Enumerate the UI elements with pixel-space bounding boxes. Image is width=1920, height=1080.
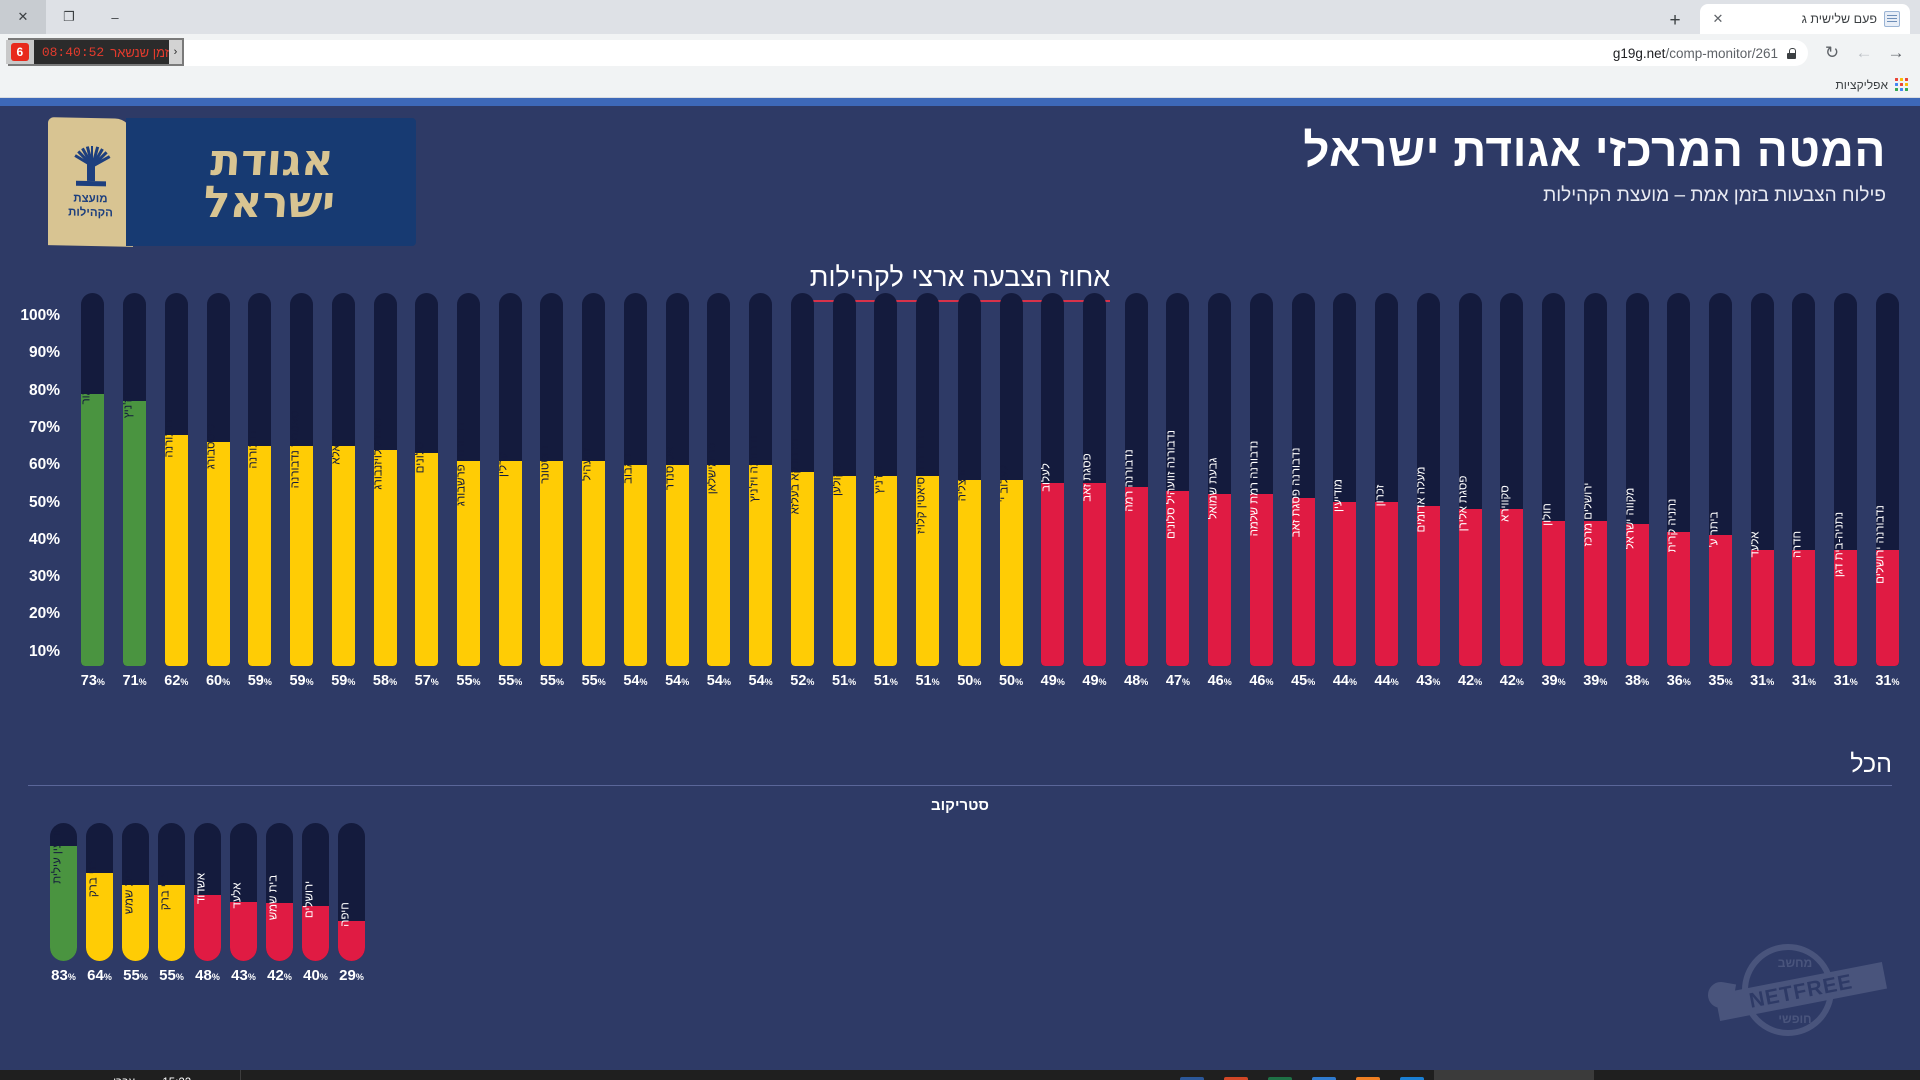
bar-value-label: 57% <box>415 673 439 689</box>
sub-bar-track: בני ברק <box>86 823 113 961</box>
bar-track: פסגת זאב <box>1083 293 1106 666</box>
y-axis-tick: 10% <box>29 643 60 661</box>
sub-bar-label: ירושלים <box>304 881 316 918</box>
bar-value-label: 51% <box>832 673 856 689</box>
bar-value-label: 54% <box>707 673 731 689</box>
bar-label: גור <box>81 391 93 405</box>
sub-bar-item[interactable]: בני ברק55% <box>158 823 185 984</box>
bar-label: זוועהיל <box>582 448 594 481</box>
tab-title: פעם שלישית ג <box>1733 12 1877 26</box>
bar-label: ויז'ניץ <box>123 393 135 418</box>
bar-track: סקולען <box>833 293 856 666</box>
sub-bar-item[interactable]: בית שמש55% <box>122 823 149 984</box>
bar-item[interactable]: מקווה ישראל38% <box>1616 293 1658 689</box>
sub-bar-track: אשדוד <box>194 823 221 961</box>
search-icon[interactable]: ⌕ <box>1834 1070 1874 1080</box>
sub-bar-item[interactable]: בית שמש42% <box>266 823 293 984</box>
show-desktop-button[interactable] <box>240 1070 249 1080</box>
bar-item[interactable]: סקולען51% <box>823 293 865 689</box>
bar-item[interactable]: נדבורנה רמה48% <box>1115 293 1157 689</box>
bar-item[interactable]: פיטסבורג60% <box>197 293 239 689</box>
bar-value-label: 31% <box>1875 673 1899 689</box>
bar-value-label: 55% <box>498 673 522 689</box>
bar-value-label: 39% <box>1583 673 1607 689</box>
y-axis-tick: 20% <box>29 605 60 623</box>
page-content: מועצת הקהילות אגודת ישראל המטה המרכזי אג… <box>0 98 1920 1070</box>
bar-label: מכנובקא בעלזא <box>791 438 803 514</box>
sub-bar-item[interactable]: ירושלים40% <box>302 823 329 984</box>
lock-icon <box>1787 48 1796 59</box>
minimize-window-icon[interactable]: – <box>92 0 138 34</box>
bar-item[interactable]: לעלוב49% <box>1032 293 1074 689</box>
bar-label: מודיעין <box>1333 479 1345 512</box>
address-bar-url: g19g.net/comp-monitor/261 <box>1613 46 1778 61</box>
bar-item[interactable]: ביאלא59% <box>322 293 364 689</box>
bar-value-label: 54% <box>665 673 689 689</box>
bar-label: וויז'ניץ <box>874 466 886 494</box>
bar-label: פסגת זאב <box>1083 453 1095 501</box>
bar-track: נתניה קרית <box>1667 293 1690 666</box>
bar-item[interactable]: מודיעין44% <box>1324 293 1366 689</box>
bar-item[interactable]: ירושלים מרכז39% <box>1574 293 1616 689</box>
bar-track: נדבורנה רמת שלמה <box>1250 293 1273 666</box>
bar-item[interactable]: נתניה-בית דגן31% <box>1825 293 1867 689</box>
bar-label: נדבורנה <box>248 431 260 469</box>
bar-item[interactable]: אלעד31% <box>1741 293 1783 689</box>
bookmarks-bar: אפליקציות <box>0 72 1920 98</box>
bar-item[interactable]: מכנובקא בעלזא52% <box>781 293 823 689</box>
bar-track: אלעד <box>1751 293 1774 666</box>
bars-row: גור73%ויז'ניץ71%נדבורנה62%פיטסבורג60%נדב… <box>72 316 1908 689</box>
bar-label: אלכסנדר <box>666 447 678 490</box>
bar-label: ביתר ע' <box>1709 512 1721 548</box>
bar-item[interactable]: ביתר ע'35% <box>1700 293 1742 689</box>
bar-value-label: 59% <box>289 673 313 689</box>
y-axis-tick: 30% <box>29 568 60 586</box>
council-logo-caption: מועצת הקהילות <box>68 193 113 220</box>
sub-bar-label: בית שמש <box>124 868 136 913</box>
clock[interactable]: 15:22 02/03/2020 <box>142 1076 212 1080</box>
sub-bar-value-label: 42% <box>267 967 292 984</box>
sub-bar-label: בני ברק <box>88 860 100 897</box>
bar-item[interactable]: זכרון44% <box>1366 293 1408 689</box>
bar-value-label: 48% <box>1124 673 1148 689</box>
bar-item[interactable]: לעלוב י'50% <box>990 293 1032 689</box>
sub-bar-track: אלעד <box>230 823 257 961</box>
bar-track: סקווירא <box>1500 293 1523 666</box>
bar-track: נדבורנה <box>248 293 271 666</box>
bar-track: ביאלא <box>332 293 355 666</box>
organization-logo[interactable]: מועצת הקהילות אגודת ישראל <box>48 118 418 246</box>
bar-track: גור <box>81 293 104 666</box>
bar-label: נדבורנה ירושלים <box>1876 505 1888 584</box>
bar-value-label: 59% <box>331 673 355 689</box>
bar-value-label: 73% <box>81 673 105 689</box>
bar-item[interactable]: הרצליה50% <box>948 293 990 689</box>
bar-label: חולון <box>1542 503 1554 526</box>
window-controls: ✕ ❐ – <box>0 0 138 34</box>
bar-value-label: 44% <box>1375 673 1399 689</box>
microsoft-powerpoint-icon[interactable]: P <box>1214 1070 1258 1080</box>
bar-value-label: 45% <box>1291 673 1315 689</box>
y-axis-tick: 60% <box>29 456 60 474</box>
bar-value-label: 49% <box>1041 673 1065 689</box>
sub-bar-item[interactable]: בני ברק64% <box>86 823 113 984</box>
bar-track: נדבורנה חוסיאטין קלויז <box>916 293 939 666</box>
bar-value-label: 46% <box>1208 673 1232 689</box>
bar-item[interactable]: סקווירא42% <box>1491 293 1533 689</box>
bar-item[interactable]: נדבורנה רמת שלמה46% <box>1241 293 1283 689</box>
bar-track: ביתר ע' <box>1709 293 1732 666</box>
bar-track: קרלין <box>499 293 522 666</box>
bar-item[interactable]: חדרה31% <box>1783 293 1825 689</box>
bar-label: חדרה <box>1792 531 1804 558</box>
bar-track: באבוב <box>624 293 647 666</box>
bar-track: נדבורנה ירושלים <box>1876 293 1899 666</box>
timer-label: זמן שנשאר <box>110 45 169 60</box>
bar-item[interactable]: פסגת אלירן42% <box>1449 293 1491 689</box>
bar-item[interactable]: קרלין55% <box>489 293 531 689</box>
bar-label: זכרון <box>1375 485 1387 507</box>
adobe-illustrator-icon[interactable]: Ai <box>1346 1070 1390 1080</box>
bar-track: וויז'ניץ <box>874 293 897 666</box>
bar-item[interactable]: נדבורנה פסגת זאב45% <box>1282 293 1324 689</box>
taskbar-window-chrome-window-1[interactable]: פעם שלישית ג - Go... <box>1434 1070 1594 1080</box>
sub-bar-item[interactable]: אלעד43% <box>230 823 257 984</box>
sub-bar-label: אשדוד <box>196 873 208 904</box>
bar-item[interactable]: נדבורנה62% <box>155 293 197 689</box>
bar-value-label: 59% <box>248 673 272 689</box>
page-title: המטה המרכזי אגודת ישראל <box>1303 124 1886 177</box>
bar-label: נדבורנה <box>165 420 177 458</box>
close-window-icon[interactable]: ✕ <box>0 0 46 34</box>
y-axis-tick: 90% <box>29 344 60 362</box>
agudat-logo-text: אגודת ישראל <box>202 140 339 224</box>
bar-value-label: 39% <box>1541 673 1565 689</box>
section-all-title: הכל <box>28 750 1892 786</box>
bar-track: זכרון <box>1375 293 1398 666</box>
bar-label: סקווירא <box>1500 485 1512 522</box>
microsoft-word-icon[interactable]: W <box>1170 1070 1214 1080</box>
bar-track: בוסטונר <box>540 293 563 666</box>
bar-label: גבעת שמואל <box>1208 458 1220 520</box>
sub-bar-label: בית שמש <box>268 874 280 919</box>
bar-label: צאנז קלויזנבורג <box>374 418 386 490</box>
bar-value-label: 58% <box>373 673 397 689</box>
bar-value-label: 55% <box>456 673 480 689</box>
bar-track: צאנז קלויזנבורג <box>374 293 397 666</box>
bar-value-label: 46% <box>1249 673 1273 689</box>
bar-label: פסגת אלירן <box>1459 475 1471 531</box>
bar-track: חדרה <box>1792 293 1815 666</box>
bar-value-label: 31% <box>1750 673 1774 689</box>
bar-item[interactable]: נתניה קרית36% <box>1658 293 1700 689</box>
bar-value-label: 31% <box>1792 673 1816 689</box>
sub-bar-track: ירושלים <box>302 823 329 961</box>
bar-track: פסגת אלירן <box>1459 293 1482 666</box>
sub-bar-track: מודיעין עילית <box>50 823 77 961</box>
bar-label: ירושלים מרכז <box>1584 483 1596 547</box>
bar-value-label: 62% <box>164 673 188 689</box>
bar-label: לעלוב י' <box>1000 465 1012 502</box>
bar-label: לעלוב <box>1041 463 1053 492</box>
bar-label: אלעד <box>1751 531 1763 557</box>
bar-item[interactable]: צאנז קלויזנבורג58% <box>364 293 406 689</box>
menorah-icon <box>64 144 118 189</box>
y-axis-tick: 100% <box>20 307 60 325</box>
bar-track: סלונים <box>415 293 438 666</box>
sub-bar-value-label: 83% <box>51 967 76 984</box>
bar-item[interactable]: בוסטונר55% <box>531 293 573 689</box>
bar-track: נתניה-בית דגן <box>1834 293 1857 666</box>
header-titles: המטה המרכזי אגודת ישראל פילוח הצבעות בזמ… <box>1303 124 1886 207</box>
browser-toolbar: → ← ↻ g19g.net/comp-monitor/261 <box>0 34 1920 72</box>
bar-track: נדבורנה <box>165 293 188 666</box>
bar-track: נדבורנה רמה <box>1125 293 1148 666</box>
sub-bar-item[interactable]: אשדוד48% <box>194 823 221 984</box>
bar-label: נתניה-בית דגן <box>1834 512 1846 577</box>
page-subtitle: פילוח הצבעות בזמן אמת – מועצת הקהילות <box>1303 185 1886 207</box>
sub-bar-label: בני ברק <box>160 872 172 909</box>
bar-track: מכנובקא בעלזא <box>791 293 814 666</box>
bar-label: מעלה אדומים <box>1417 467 1429 533</box>
bar-item[interactable]: נדבורנה פרשבורג55% <box>448 293 490 689</box>
bar-value-label: 42% <box>1500 673 1524 689</box>
file-explorer-icon[interactable]: 🗂 <box>1754 1070 1794 1080</box>
browser-tab[interactable]: פעם שלישית ג ✕ <box>1700 4 1910 34</box>
sub-bar-item[interactable]: מודיעין עילית83% <box>50 823 77 984</box>
back-icon[interactable]: ← <box>1850 39 1878 67</box>
bar-item[interactable]: סלונים57% <box>406 293 448 689</box>
bar-item[interactable]: אלכסנדר54% <box>656 293 698 689</box>
timer-app-icon: 6 <box>6 40 34 64</box>
bar-track: פרימישלאן <box>707 293 730 666</box>
sub-bar-value-label: 29% <box>339 967 364 984</box>
internet-explorer-icon[interactable]: e <box>1390 1070 1434 1080</box>
bar-item[interactable]: פרימישלאן54% <box>698 293 740 689</box>
watermark-bottom-text: חופשי <box>1700 1012 1890 1026</box>
netfree-timer-widget[interactable]: › זמן שנשאר 08:40:52 6 <box>8 38 184 66</box>
sub-bar-value-label: 43% <box>231 967 256 984</box>
y-axis-tick: 50% <box>29 494 60 512</box>
task-view-icon[interactable]: ❑ <box>1794 1070 1834 1080</box>
y-axis: 100%90%80%70%60%50%40%30%20%10% <box>0 316 68 689</box>
apps-grid-icon[interactable] <box>1895 78 1908 91</box>
browser-tab-strip: ✕ ❐ – + פעם שלישית ג ✕ <box>0 0 1920 34</box>
bar-label: פרימישלאן <box>707 443 719 495</box>
bar-value-label: 47% <box>1166 673 1190 689</box>
bar-track: מודיעין <box>1333 293 1356 666</box>
bar-label: פיטסבורג <box>207 424 219 469</box>
bar-label: קרלין <box>499 452 511 477</box>
sub-bar-fill <box>194 895 221 961</box>
sub-bar-item[interactable]: חיפה29% <box>338 823 365 984</box>
bar-item[interactable]: זוועהיל55% <box>573 293 615 689</box>
sub-bar-value-label: 40% <box>303 967 328 984</box>
bar-value-label: 51% <box>915 673 939 689</box>
bar-track: נדבורנה זוועהיל סלונים <box>1166 293 1189 666</box>
sub-bar-fill <box>230 902 257 961</box>
adobe-photoshop-icon[interactable]: Ps <box>1302 1070 1346 1080</box>
bar-value-label: 35% <box>1708 673 1732 689</box>
reload-icon[interactable]: ↻ <box>1818 39 1846 67</box>
bar-item[interactable]: וויז'ניץ51% <box>865 293 907 689</box>
sub-bar-label: מודיעין עילית <box>52 823 64 884</box>
sub-bar-value-label: 64% <box>87 967 112 984</box>
y-axis-tick: 70% <box>29 419 60 437</box>
system-tray: ▭ 15:22 02/03/2020 עברי HE 🔊 🖵 ⌃ ⚇ <box>2 1070 249 1080</box>
bar-value-label: 71% <box>123 673 147 689</box>
bar-track: לעלוב י' <box>1000 293 1023 666</box>
taskbar-window-chrome-window-2[interactable]: אסטרטגיה - ניתוח ... <box>1594 1070 1754 1080</box>
bar-label: באבוב <box>624 453 636 484</box>
bar-track: ירושלים מרכז <box>1584 293 1607 666</box>
bar-value-label: 55% <box>540 673 564 689</box>
start-button[interactable] <box>1874 1070 1918 1080</box>
bar-track: חולון <box>1542 293 1565 666</box>
forward-icon[interactable]: → <box>1882 39 1910 67</box>
bookmark-apps-label[interactable]: אפליקציות <box>1836 78 1888 92</box>
sub-bar-value-label: 48% <box>195 967 220 984</box>
language-indicator[interactable]: עברי HE <box>109 1076 139 1080</box>
bar-track: נדבורנה פסגת זאב <box>1292 293 1315 666</box>
bar-label: נדבורנה פסגת זאב <box>1292 447 1304 537</box>
bar-value-label: 54% <box>623 673 647 689</box>
bar-track: פיטסבורג <box>207 293 230 666</box>
bar-track: גבעת שמואל <box>1208 293 1231 666</box>
y-axis-tick: 40% <box>29 531 60 549</box>
microsoft-excel-icon[interactable]: X <box>1258 1070 1302 1080</box>
bar-label: נדבורנה רמה <box>1125 450 1137 512</box>
tab-close-icon[interactable]: ✕ <box>1710 11 1726 27</box>
sub-bar-track: חיפה <box>338 823 365 961</box>
bar-value-label: 31% <box>1834 673 1858 689</box>
sub-bar-label: חיפה <box>340 903 352 928</box>
sub-bar-track: בית שמש <box>122 823 149 961</box>
council-logo-panel: מועצת הקהילות <box>48 117 133 247</box>
bar-track: לעלוב <box>1041 293 1064 666</box>
sub-bar-value-label: 55% <box>159 967 184 984</box>
bar-item[interactable]: סאטמר נדבורנה59% <box>281 293 323 689</box>
bar-track: מעלה אדומים <box>1417 293 1440 666</box>
bar-value-label: 55% <box>582 673 606 689</box>
main-bar-chart: 100%90%80%70%60%50%40%30%20%10% גור73%וי… <box>0 316 1920 736</box>
sub-chart-title: סטריקוב <box>28 797 1892 814</box>
bar-value-label: 38% <box>1625 673 1649 689</box>
agudat-logo-panel: אגודת ישראל <box>126 118 416 246</box>
bar-item[interactable]: גבעת שמואל46% <box>1199 293 1241 689</box>
bar-value-label: 54% <box>749 673 773 689</box>
bar-label: נדבורנה ויז'ניץ <box>749 435 761 502</box>
new-tab-button[interactable]: + <box>1662 7 1688 33</box>
bar-track: ויז'ניץ <box>123 293 146 666</box>
taskbar-apps: eAiPsXPW <box>1170 1070 1434 1080</box>
bar-item[interactable]: נדבורנה ירושלים31% <box>1867 293 1909 689</box>
bar-label: נדבורנה חוסיאטין קלויז <box>916 425 928 534</box>
bar-label: נתניה קרית <box>1667 499 1679 553</box>
sub-bar-chart: מודיעין עילית83%בני ברק64%בית שמש55%בני … <box>28 823 1892 984</box>
bar-track: מקווה ישראל <box>1626 293 1649 666</box>
bar-label: נדבורנה רמת שלמה <box>1250 441 1262 537</box>
bar-track: סאטמר נדבורנה <box>290 293 313 666</box>
bar-track: הרצליה <box>958 293 981 666</box>
bar-value-label: 36% <box>1667 673 1691 689</box>
windows-taskbar: ⌕ ❑ 🗂 אסטרטגיה - ניתוח ...פעם שלישית ג -… <box>0 1070 1920 1080</box>
bar-value-label: 42% <box>1458 673 1482 689</box>
sub-bar-value-label: 55% <box>123 967 148 984</box>
sub-bar-fill <box>338 921 365 961</box>
bar-item[interactable]: גור73% <box>72 293 114 689</box>
bar-value-label: 50% <box>957 673 981 689</box>
bar-label: נדבורנה פרשבורג <box>457 423 469 506</box>
bar-item[interactable]: מעלה אדומים43% <box>1408 293 1450 689</box>
bar-value-label: 52% <box>790 673 814 689</box>
address-bar[interactable]: g19g.net/comp-monitor/261 <box>10 40 1808 66</box>
y-axis-tick: 80% <box>29 382 60 400</box>
sub-bar-track: בית שמש <box>266 823 293 961</box>
bar-item[interactable]: נדבורנה זוועהיל סלונים47% <box>1157 293 1199 689</box>
bar-label: נדבורנה זוועהיל סלונים <box>1166 430 1178 539</box>
timer-value: 08:40:52 <box>36 45 110 60</box>
bar-item[interactable]: נדבורנה59% <box>239 293 281 689</box>
bar-label: סקולען <box>833 463 845 496</box>
tab-favicon-icon <box>1884 11 1900 27</box>
bar-item[interactable]: פסגת זאב49% <box>1074 293 1116 689</box>
site-header: מועצת הקהילות אגודת ישראל המטה המרכזי אג… <box>0 106 1920 256</box>
bar-label: ביאלא <box>332 435 344 465</box>
bar-value-label: 50% <box>999 673 1023 689</box>
bar-track: נדבורנה ויז'ניץ <box>749 293 772 666</box>
sub-bar-label: אלעד <box>232 883 244 909</box>
bar-label: סאטמר נדבורנה <box>290 411 302 489</box>
bar-label: מקווה ישראל <box>1626 487 1638 549</box>
bar-value-label: 51% <box>874 673 898 689</box>
bar-track: נדבורנה פרשבורג <box>457 293 480 666</box>
section-all: הכל סטריקוב מודיעין עילית83%בני ברק64%בי… <box>28 750 1892 984</box>
bar-value-label: 49% <box>1082 673 1106 689</box>
bar-item[interactable]: באבוב54% <box>615 293 657 689</box>
restore-window-icon[interactable]: ❐ <box>46 0 92 34</box>
bar-item[interactable]: נדבורנה חוסיאטין קלויז51% <box>907 293 949 689</box>
timer-collapse-handle[interactable]: › <box>169 40 182 64</box>
sub-bar-track: בני ברק <box>158 823 185 961</box>
bar-label: בוסטונר <box>540 446 552 485</box>
bar-label: סלונים <box>415 442 427 474</box>
bar-label: הרצליה <box>958 466 970 502</box>
bar-value-label: 44% <box>1333 673 1357 689</box>
bar-value-label: 43% <box>1416 673 1440 689</box>
top-blue-strip <box>0 98 1920 106</box>
bar-item[interactable]: נדבורנה ויז'ניץ54% <box>740 293 782 689</box>
bar-value-label: 60% <box>206 673 230 689</box>
bar-track: אלכסנדר <box>666 293 689 666</box>
bar-item[interactable]: חולון39% <box>1533 293 1575 689</box>
bar-track: זוועהיל <box>582 293 605 666</box>
bar-item[interactable]: ויז'ניץ71% <box>114 293 156 689</box>
